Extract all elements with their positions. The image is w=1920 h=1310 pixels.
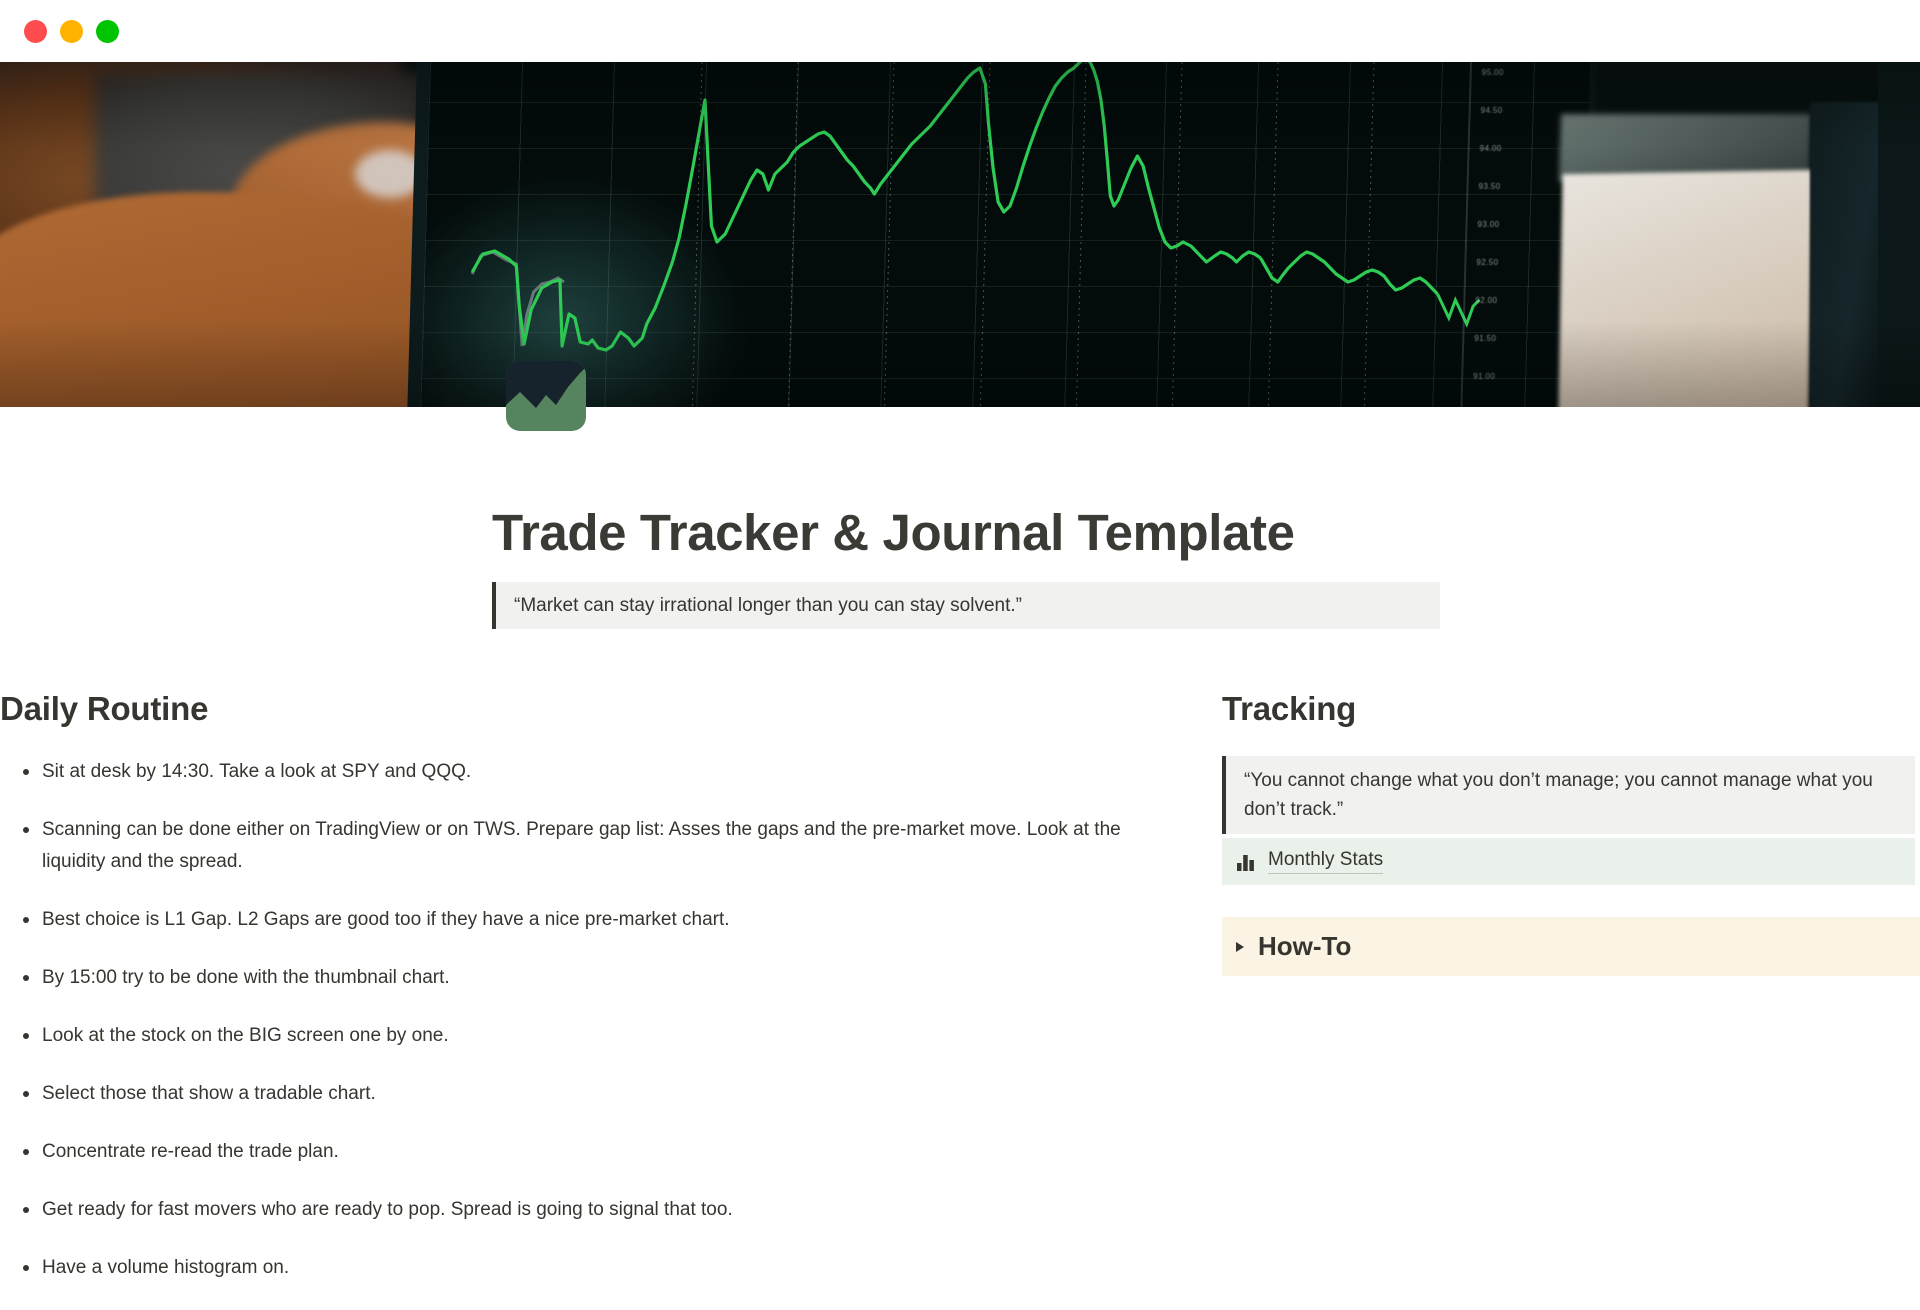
tracking-quote-callout: “You cannot change what you don’t manage… (1222, 756, 1915, 834)
list-item: Get ready for fast movers who are ready … (0, 1194, 1130, 1226)
tracking-quote-text: “You cannot change what you don’t manage… (1244, 770, 1873, 820)
close-window-button[interactable] (24, 20, 47, 43)
daily-routine-list: Sit at desk by 14:30. Take a look at SPY… (0, 756, 1190, 1284)
cover-photo: 95.00 94.50 94.00 93.50 93.00 92.50 92.0… (0, 62, 1920, 407)
howto-label: How-To (1258, 931, 1351, 962)
list-item: Sit at desk by 14:30. Take a look at SPY… (0, 756, 1130, 788)
triangle-right-icon[interactable] (1236, 942, 1244, 952)
list-item: Best choice is L1 Gap. L2 Gaps are good … (0, 904, 1130, 936)
cover-image[interactable]: 95.00 94.50 94.00 93.50 93.00 92.50 92.0… (0, 62, 1920, 407)
window-titlebar (0, 0, 1920, 62)
list-item: Select those that show a tradable chart. (0, 1078, 1130, 1110)
monthly-stats-link[interactable]: Monthly Stats (1222, 838, 1915, 885)
daily-routine-heading: Daily Routine (0, 690, 1190, 728)
hero-quote-text: “Market can stay irrational longer than … (514, 595, 1022, 616)
minimize-window-button[interactable] (60, 20, 83, 43)
daily-routine-section: Daily Routine Sit at desk by 14:30. Take… (0, 690, 1190, 1310)
list-item: Look at the stock on the BIG screen one … (0, 1020, 1130, 1052)
bar-chart-icon (1236, 853, 1256, 871)
list-item: By 15:00 try to be done with the thumbna… (0, 962, 1130, 994)
list-item: Concentrate re-read the trade plan. (0, 1136, 1130, 1168)
list-item: Have a volume histogram on. (0, 1252, 1130, 1284)
hero-quote-callout: “Market can stay irrational longer than … (492, 582, 1440, 629)
list-item: Scanning can be done either on TradingVi… (0, 814, 1130, 878)
line-chart-icon[interactable] (506, 361, 586, 431)
tracking-heading: Tracking (1222, 690, 1920, 728)
howto-toggle[interactable]: How-To (1222, 917, 1920, 976)
banner-vignette (0, 62, 1920, 407)
monthly-stats-label: Monthly Stats (1268, 849, 1383, 874)
page-title: Trade Tracker & Journal Template (492, 503, 1295, 562)
tracking-section: Tracking “You cannot change what you don… (1222, 690, 1920, 976)
maximize-window-button[interactable] (96, 20, 119, 43)
